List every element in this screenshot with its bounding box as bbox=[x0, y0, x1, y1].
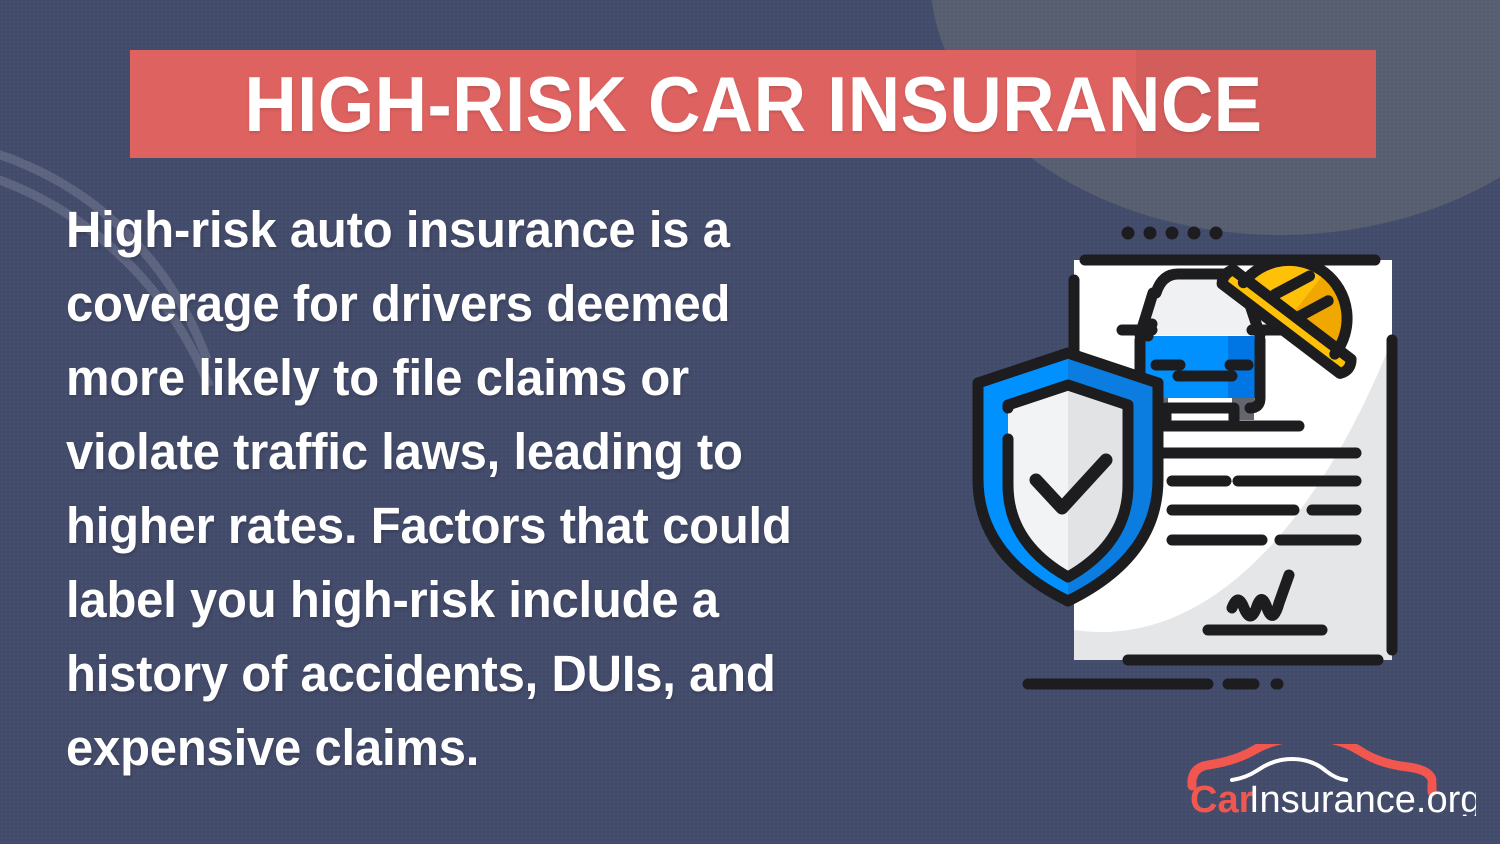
body-line: label you high-risk include a bbox=[66, 563, 911, 637]
page-title: HIGH-RISK CAR INSURANCE bbox=[244, 65, 1262, 143]
infographic-canvas: HIGH-RISK CAR INSURANCE High-risk auto i… bbox=[0, 0, 1500, 844]
carinsurance-logo[interactable]: Car Insurance.org bbox=[1186, 744, 1476, 816]
body-line: coverage for drivers deemed bbox=[66, 267, 911, 341]
body-line: violate traffic laws, leading to bbox=[66, 415, 911, 489]
body-line: more likely to file claims or bbox=[66, 341, 911, 415]
body-line: higher rates. Factors that could bbox=[66, 489, 911, 563]
body-line: High-risk auto insurance is a bbox=[66, 193, 911, 267]
insurance-policy-illustration bbox=[960, 190, 1440, 710]
body-line: expensive claims. bbox=[66, 711, 911, 785]
dot-row bbox=[1122, 227, 1223, 240]
body-copy: High-risk auto insurance is a coverage f… bbox=[66, 193, 946, 785]
logo-brand-primary: Car bbox=[1190, 779, 1254, 816]
title-banner: HIGH-RISK CAR INSURANCE bbox=[130, 50, 1376, 158]
body-line: history of accidents, DUIs, and bbox=[66, 637, 911, 711]
logo-brand-secondary: Insurance.org bbox=[1249, 779, 1476, 816]
